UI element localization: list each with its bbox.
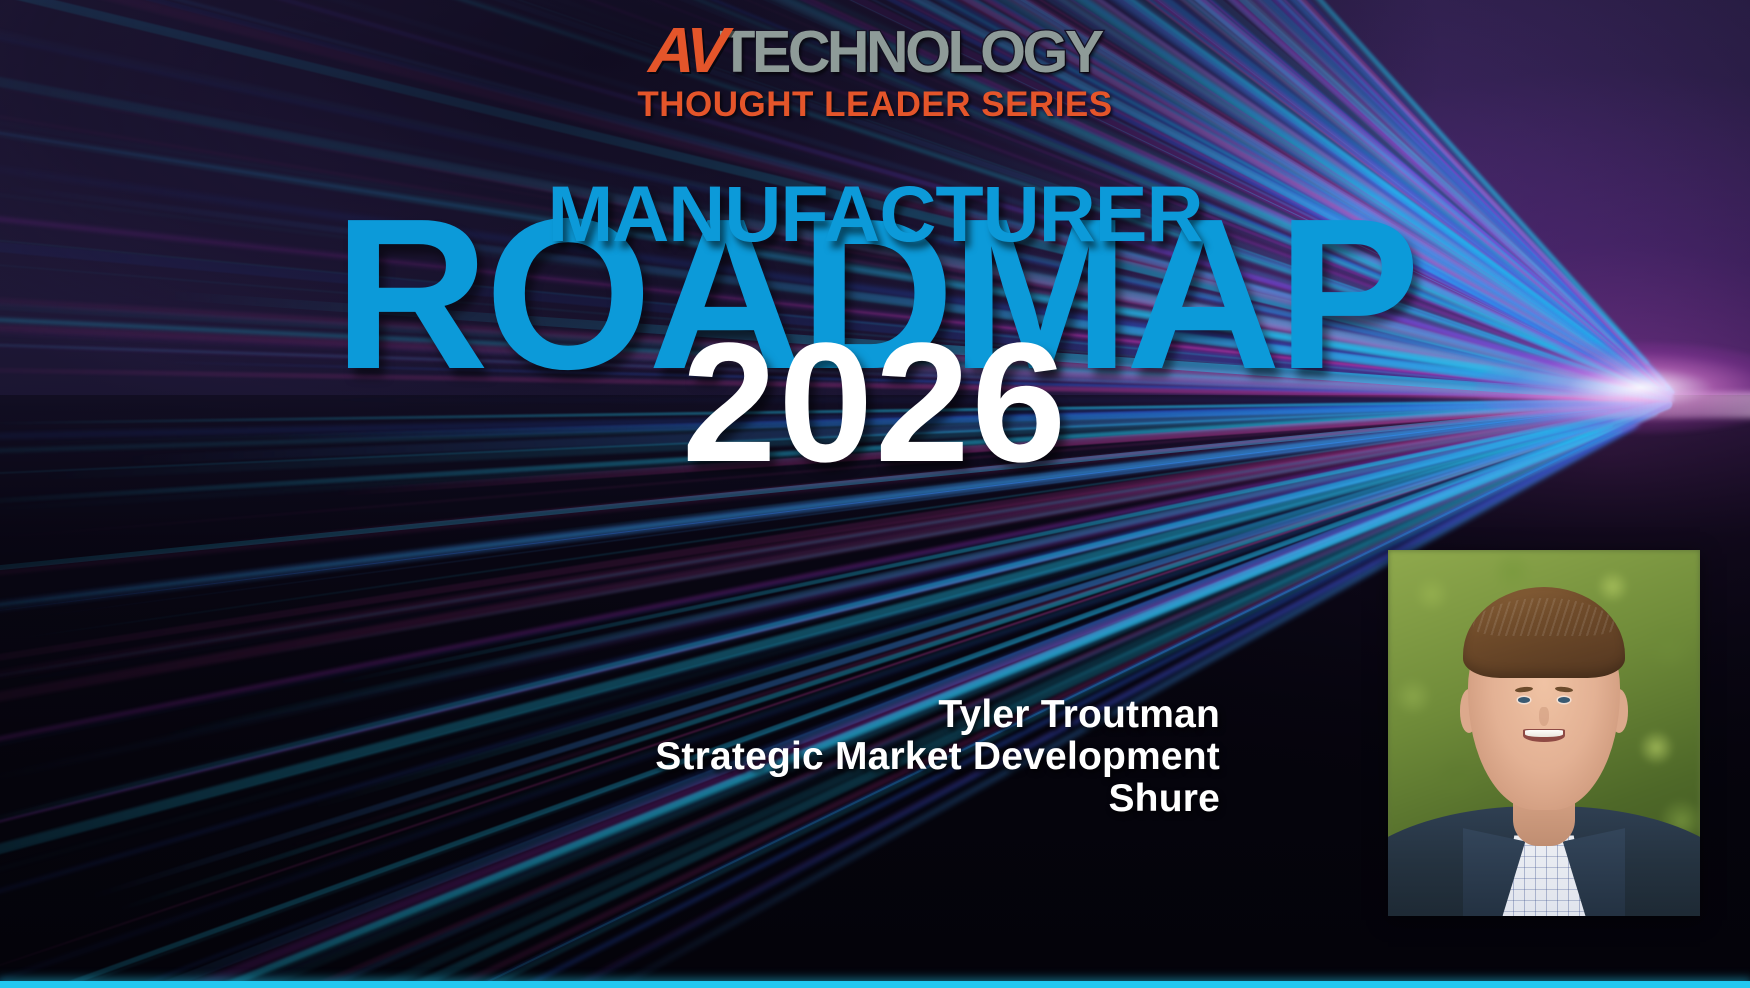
headshot-eyebrow-right [1554,686,1573,693]
speaker-company: Shure [520,778,1220,820]
vanishing-point-flare [1400,392,1750,418]
bottom-accent-rule [0,981,1750,988]
speaker-name: Tyler Troutman [520,694,1220,736]
headshot-image [1388,550,1700,916]
headshot-nose [1539,707,1548,725]
headshot-eyebrow-left [1515,686,1534,693]
headshot-eye-right [1558,697,1570,703]
speaker-headshot [1388,550,1700,916]
headshot-eye-left [1518,697,1530,703]
speaker-role: Strategic Market Development [520,736,1220,778]
headshot-teeth [1525,730,1563,737]
slide-canvas: AVTECHNOLOGY THOUGHT LEADER SERIES ROADM… [0,0,1750,988]
speaker-info: Tyler Troutman Strategic Market Developm… [520,694,1220,820]
headshot-mouth [1523,729,1566,742]
